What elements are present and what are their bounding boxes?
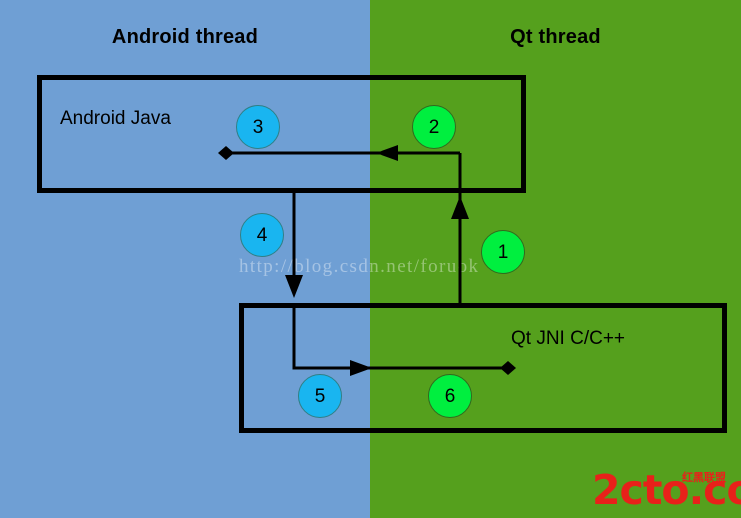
step-circle-6: 6 <box>428 374 472 418</box>
android-thread-title: Android thread <box>0 26 370 49</box>
step-circle-3: 3 <box>236 105 280 149</box>
step-circle-2: 2 <box>412 105 456 149</box>
qt-thread-title: Qt thread <box>370 26 741 49</box>
android-java-label: Android Java <box>60 108 171 130</box>
site-logo: 2cto.com 红黑联盟 <box>592 470 734 514</box>
logo-chinese-text: 红黑联盟 <box>682 472 726 484</box>
step-circle-4: 4 <box>240 213 284 257</box>
step-circle-1: 1 <box>481 230 525 274</box>
step-circle-5: 5 <box>298 374 342 418</box>
watermark-text: http://blog.csdn.net/foruok <box>239 256 479 278</box>
diagram-canvas: Android thread Qt thread http://blog.csd… <box>0 0 741 518</box>
qt-jni-label: Qt JNI C/C++ <box>511 328 625 350</box>
